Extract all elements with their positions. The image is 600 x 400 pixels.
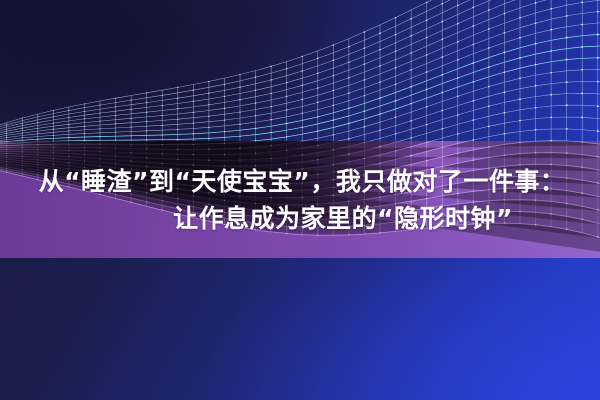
title-line-2: 让作息成为家里的“隐形时钟” — [173, 202, 513, 235]
title-line-1: 从“睡渣”到“天使宝宝”，我只做对了一件事： — [39, 165, 566, 198]
title-block: 从“睡渣”到“天使宝宝”，我只做对了一件事： 让作息成为家里的“隐形时钟” — [0, 141, 600, 258]
banner-image: 从“睡渣”到“天使宝宝”，我只做对了一件事： 让作息成为家里的“隐形时钟” — [0, 0, 600, 400]
